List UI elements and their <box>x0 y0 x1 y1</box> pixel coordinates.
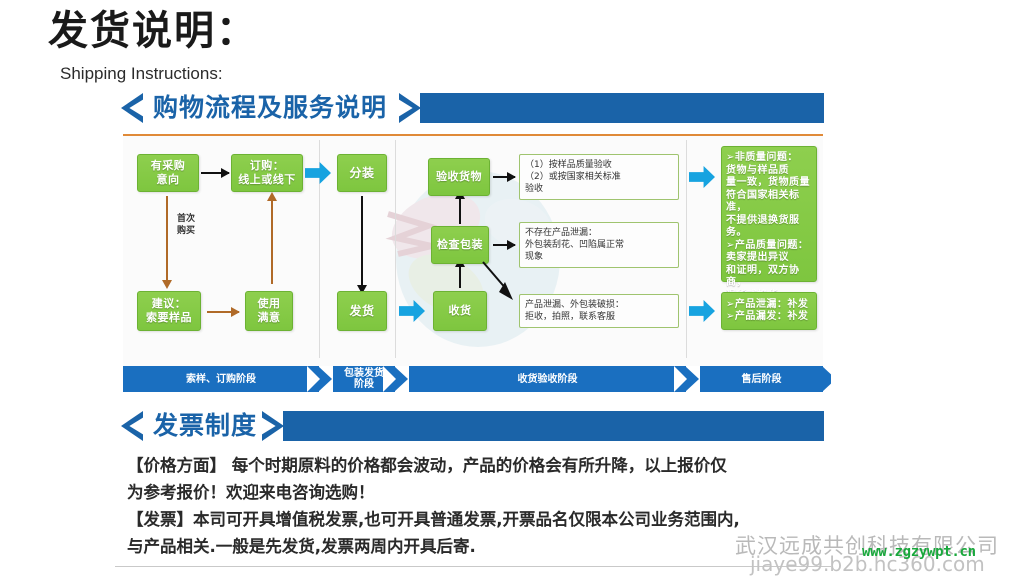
shipping-instructions-image: 购物流程及服务说明 有采购 意向 订购： 线上或线下 首次 购买 建议： <box>115 88 831 573</box>
box-check-package[interactable]: 检查包装 <box>431 226 489 264</box>
watermark-site-url: www.zgzywpt.cn <box>862 544 976 560</box>
box-after-sales-resend-label: ➢产品泄漏：补发 ➢产品漏发：补发 <box>726 299 808 324</box>
invoice-banner: 发票制度 <box>115 406 831 446</box>
box-inspect-goods-label: 验收货物 <box>436 170 482 184</box>
stage-bar: 索样、订购阶段 包装发货 阶段 收货验收阶段 售后阶段 <box>123 366 823 392</box>
stage-notch <box>822 366 831 392</box>
stage-notch <box>394 366 408 392</box>
arrow-stage3-to-stage4-bottom <box>689 300 715 322</box>
stage-label: 索样、订购阶段 <box>186 374 256 385</box>
box-ship[interactable]: 发货 <box>337 291 387 331</box>
invoice-paragraph-line: 为参考报价！欢迎来电咨询选购！ <box>127 481 831 504</box>
box-receive-label: 收货 <box>449 304 472 318</box>
bottom-divider <box>115 566 831 567</box>
stage-notch <box>685 366 699 392</box>
stage-label: 售后阶段 <box>742 374 782 385</box>
arrow-stage3-to-stage4-top <box>689 166 715 188</box>
banner-fill-bar <box>420 93 824 123</box>
chevron-left-icon <box>121 93 143 123</box>
stage-item-receiving-inspection[interactable]: 收货验收阶段 <box>409 366 686 392</box>
stage-item-sampling-ordering[interactable]: 索样、订购阶段 <box>123 366 319 392</box>
invoice-policy-section: 发票制度 【价格方面】 每个时期原料的价格都会波动，产品的价格会有所升降，以上报… <box>115 406 831 558</box>
box-repack[interactable]: 分装 <box>337 154 387 192</box>
stage-item-packing-shipping[interactable]: 包装发货 阶段 <box>333 366 395 392</box>
arrow-repack-to-ship <box>361 196 363 286</box>
stage-label: 包装发货 阶段 <box>344 368 384 390</box>
page-title: 发货说明： <box>48 6 258 56</box>
arrow-satisfied-to-order <box>271 200 273 284</box>
box-sample-advice-label: 建议： 索要样品 <box>146 297 192 325</box>
box-purchase-intent-label: 有采购 意向 <box>151 159 186 187</box>
stage-notch <box>318 366 332 392</box>
chevron-left-icon <box>121 411 143 441</box>
arrow-check-to-note <box>493 244 515 246</box>
flow-banner-title: 购物流程及服务说明 <box>153 90 387 126</box>
arrow-receive-to-check <box>459 266 461 288</box>
box-repack-label: 分装 <box>349 166 374 181</box>
arrow-first-purchase-down <box>166 196 168 281</box>
box-sample-advice[interactable]: 建议： 索要样品 <box>137 291 201 331</box>
page-subtitle: Shipping Instructions: <box>60 64 223 84</box>
lane-separator <box>686 140 687 358</box>
arrow-stage2-to-stage3 <box>399 300 425 322</box>
note-inspection-standard: （1）按样品质量验收 （2）或按国家相关标准 验收 <box>519 154 679 200</box>
invoice-paragraph-line: 【价格方面】 每个时期原料的价格都会波动，产品的价格会有所升降，以上报价仅 <box>127 454 831 477</box>
box-receive[interactable]: 收货 <box>433 291 487 331</box>
flow-banner: 购物流程及服务说明 <box>115 88 831 128</box>
box-ship-label: 发货 <box>349 304 374 319</box>
box-after-sales-resend[interactable]: ➢产品泄漏：补发 ➢产品漏发：补发 <box>721 292 817 330</box>
box-use-satisfied[interactable]: 使用 满意 <box>245 291 293 331</box>
note-damage-handling: 产品泄漏、外包装破损： 拒收，拍照，联系客服 <box>519 294 679 328</box>
stage-label: 收货验收阶段 <box>518 374 578 385</box>
box-use-satisfied-label: 使用 满意 <box>258 297 281 325</box>
box-order[interactable]: 订购： 线上或线下 <box>231 154 303 192</box>
banner-fill-bar <box>283 411 824 441</box>
invoice-paragraph-line: 与产品相关.一般是先发货,发票两周内开具后寄. <box>127 535 831 558</box>
arrow-sample-to-satisfied <box>207 311 239 313</box>
arrow-check-to-damage-note <box>481 260 519 302</box>
label-first-purchase: 首次 购买 <box>177 214 195 237</box>
note-package-condition: 不存在产品泄漏： 外包装刮花、凹陷属正常 现象 <box>519 222 679 268</box>
box-after-sales-quality[interactable]: ➢非质量问题： 货物与样品质 量一致，货物质量 符合国家相关标准， 不提供退换货… <box>721 146 817 282</box>
box-after-sales-quality-label: ➢非质量问题： 货物与样品质 量一致，货物质量 符合国家相关标准， 不提供退换货… <box>726 152 812 302</box>
arrow-check-to-inspect <box>459 198 461 224</box>
arrow-intent-to-order <box>201 172 229 174</box>
arrow-inspect-to-note <box>493 176 515 178</box>
stage-item-after-sales[interactable]: 售后阶段 <box>700 366 823 392</box>
invoice-banner-title: 发票制度 <box>153 408 257 444</box>
lane-separator <box>395 140 396 358</box>
box-purchase-intent[interactable]: 有采购 意向 <box>137 154 199 192</box>
box-order-label: 订购： 线上或线下 <box>238 159 296 187</box>
arrow-stage1-to-stage2 <box>305 162 331 184</box>
box-inspect-goods[interactable]: 验收货物 <box>428 158 490 196</box>
process-flow-diagram: 有采购 意向 订购： 线上或线下 首次 购买 建议： 索要样品 使用 满意 分装… <box>123 136 823 366</box>
invoice-paragraph-line: 【发票】本司可开具增值税发票,也可开具普通发票,开票品名仅限本公司业务范围内, <box>127 508 831 531</box>
box-check-package-label: 检查包装 <box>437 238 483 252</box>
